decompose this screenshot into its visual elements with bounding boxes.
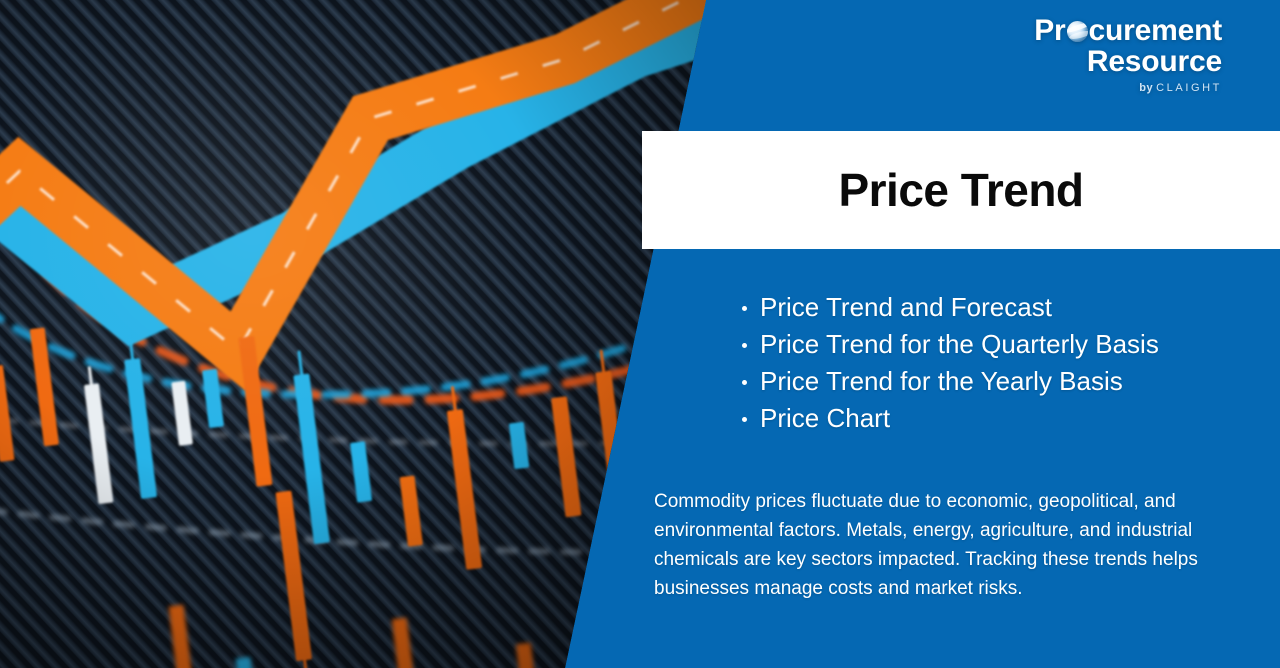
title-band: Price Trend	[642, 131, 1280, 249]
description-paragraph: Commodity prices fluctuate due to econom…	[654, 487, 1236, 603]
logo-text-pr: Pr	[1034, 14, 1065, 47]
list-item-label: Price Chart	[760, 403, 890, 433]
list-item: Price Trend for the Yearly Basis	[738, 363, 1159, 400]
list-item-label: Price Trend for the Yearly Basis	[760, 366, 1123, 396]
brand-logo: Prcurement Resource byCLAIGHT	[1034, 16, 1222, 94]
page-title: Price Trend	[838, 163, 1083, 217]
list-item-label: Price Trend and Forecast	[760, 292, 1052, 322]
artwork-panel	[0, 0, 720, 668]
feature-bullet-list: Price Trend and Forecast Price Trend for…	[738, 289, 1159, 437]
logo-tagline: byCLAIGHT	[1034, 83, 1222, 94]
logo-tagline-by: by	[1139, 82, 1153, 94]
logo-line-one: Prcurement	[1034, 16, 1222, 47]
bullet-dot-icon	[742, 306, 747, 311]
logo-text-curement: curement	[1089, 14, 1222, 47]
list-item: Price Trend for the Quarterly Basis	[738, 326, 1159, 363]
list-item: Price Trend and Forecast	[738, 289, 1159, 326]
artwork-vignette	[0, 0, 720, 668]
bullet-dot-icon	[742, 343, 747, 348]
list-item-label: Price Trend for the Quarterly Basis	[760, 329, 1159, 359]
logo-line-two: Resource	[1034, 47, 1222, 78]
list-item: Price Chart	[738, 400, 1159, 437]
logo-tagline-brand: CLAIGHT	[1156, 82, 1222, 94]
globe-icon	[1067, 21, 1088, 42]
bullet-dot-icon	[742, 380, 747, 385]
price-trend-banner: Prcurement Resource byCLAIGHT Price Tren…	[0, 0, 1280, 668]
bullet-dot-icon	[742, 417, 747, 422]
